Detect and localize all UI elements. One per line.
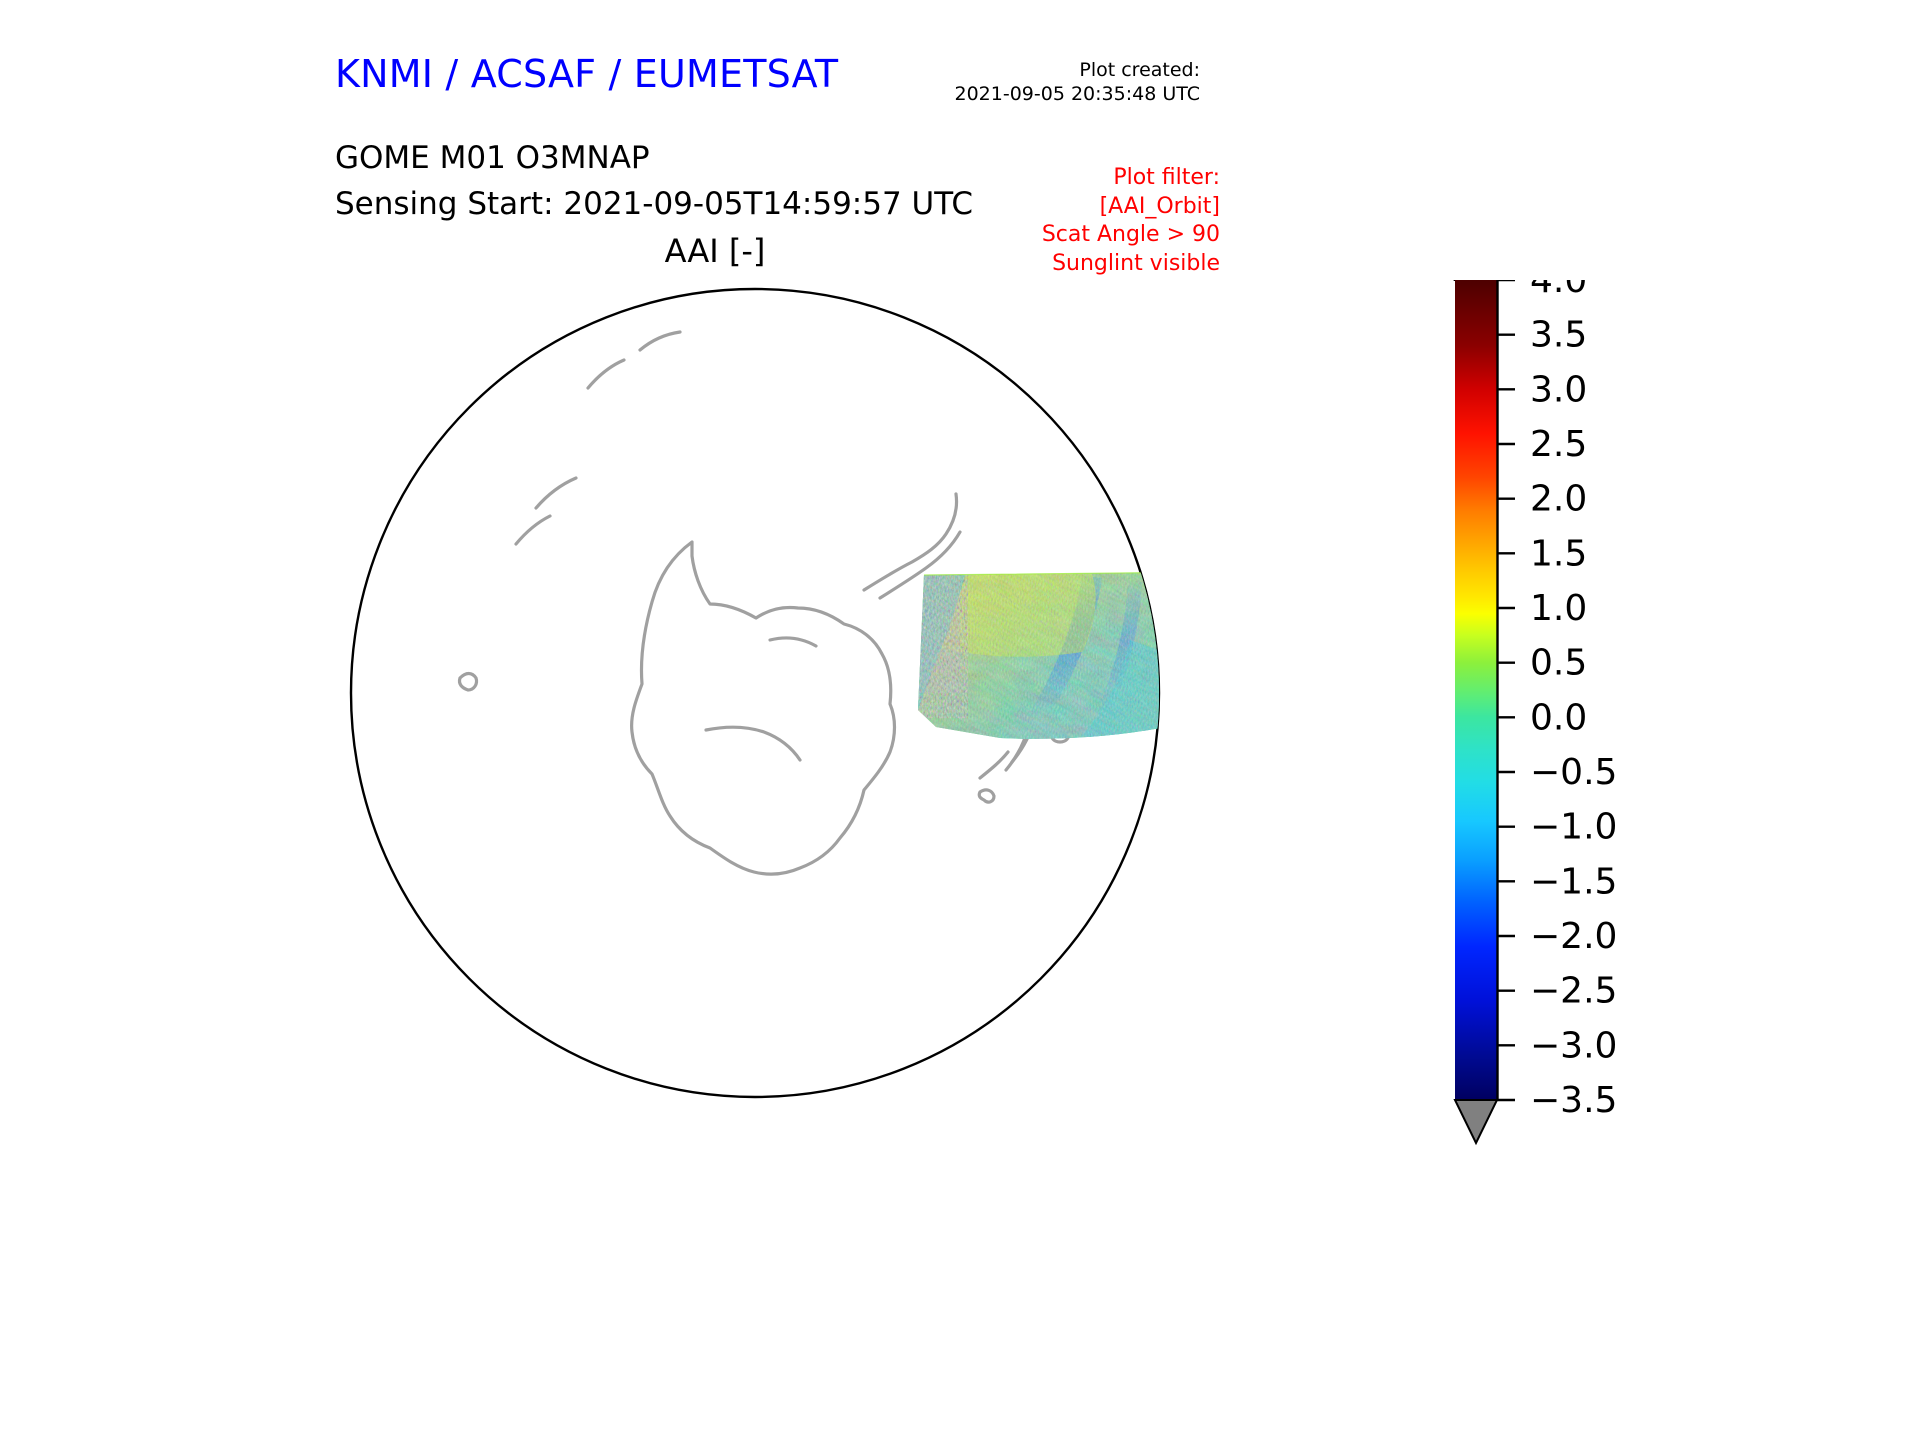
colorbar-tick-label-11: −1.5 [1530,861,1617,902]
colorbar-tick-label-8: 0.0 [1530,697,1587,738]
colorbar-tick-label-5: 1.5 [1530,533,1587,574]
aai-colorbar: 4.03.53.02.52.01.51.00.50.0−0.5−1.0−1.5−… [1440,280,1860,1310]
colorbar-tick-label-6: 1.0 [1530,588,1587,629]
colorbar-tick-label-10: −1.0 [1530,807,1617,848]
plot-filter-line-2: Sunglint visible [800,250,1220,279]
plot-created-label: Plot created: [780,58,1200,82]
colorbar-tick-label-9: −0.5 [1530,752,1617,793]
colorbar-tick-label-15: −3.5 [1530,1080,1617,1121]
colorbar-under-arrow [1455,1100,1497,1143]
colorbar-tick-label-1: 3.5 [1530,315,1587,356]
plot-filter-line-0: [AAI_Orbit] [800,193,1220,222]
colorbar-tick-group: 4.03.53.02.52.01.51.00.50.0−0.5−1.0−1.5−… [1498,280,1618,1121]
colorbar-tick-label-3: 2.5 [1530,424,1587,465]
polar-map-panel [340,280,1170,1110]
colorbar-gradient [1455,280,1497,1100]
plot-created-timestamp: 2021-09-05 20:35:48 UTC [780,82,1200,106]
colorbar-tick-label-2: 3.0 [1530,369,1587,410]
colorbar-tick-label-14: −3.0 [1530,1025,1617,1066]
colorbar-tick-label-13: −2.5 [1530,971,1617,1012]
plot-created-block: Plot created: 2021-09-05 20:35:48 UTC [780,58,1200,107]
dataset-name: GOME M01 O3MNAP [335,140,650,176]
plot-filter-title: Plot filter: [800,164,1220,193]
colorbar-tick-label-12: −2.0 [1530,916,1617,957]
colorbar-panel: 4.03.53.02.52.01.51.00.50.0−0.5−1.0−1.5−… [1440,280,1860,1310]
plot-filter-line-1: Scat Angle > 90 [800,221,1220,250]
colorbar-tick-label-4: 2.0 [1530,479,1587,520]
plot-filter-block: Plot filter: [AAI_Orbit] Scat Angle > 90… [800,164,1220,278]
polar-stereographic-map [340,280,1170,1110]
colorbar-tick-label-0: 4.0 [1530,280,1587,301]
colorbar-tick-label-7: 0.5 [1530,643,1587,684]
